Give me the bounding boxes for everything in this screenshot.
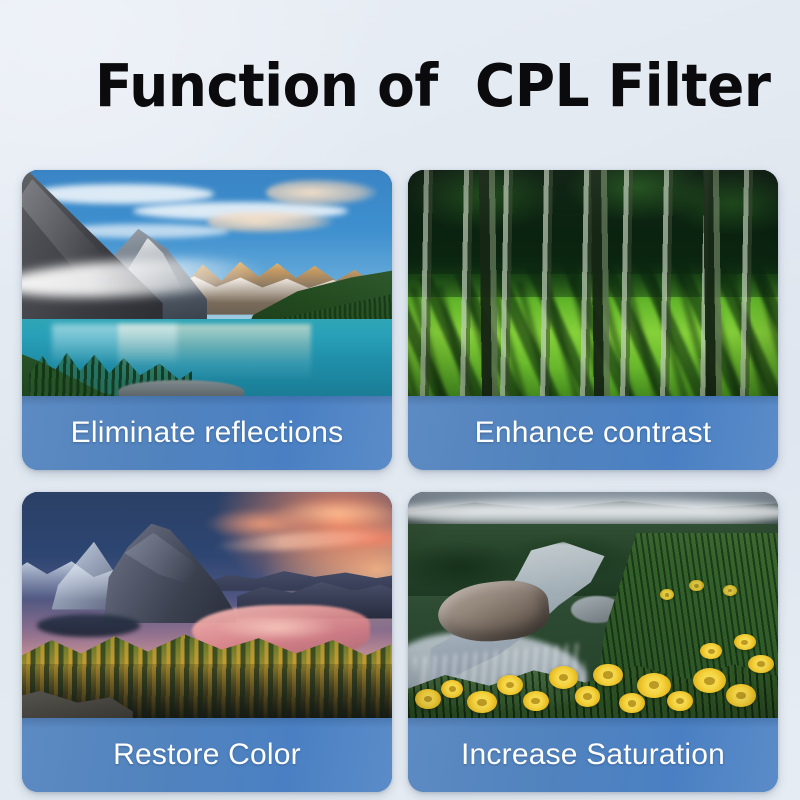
feature-card-increase-saturation[interactable]: Increase Saturation <box>408 492 778 792</box>
lake-glow <box>214 614 340 641</box>
feature-card-eliminate-reflections[interactable]: Eliminate reflections <box>22 170 392 470</box>
vignette <box>408 492 778 718</box>
page-title: Function of CPL Filter <box>95 56 771 115</box>
photo-mountain-lake <box>22 170 392 396</box>
card-caption: Enhance contrast <box>408 396 778 470</box>
shore-rocks <box>118 380 244 396</box>
card-caption: Restore Color <box>22 718 392 792</box>
card-caption: Eliminate reflections <box>22 396 392 470</box>
feature-card-grid: Eliminate reflections Enhance contrast <box>22 170 778 792</box>
poster-canvas: Function of CPL Filter <box>0 0 800 800</box>
photo-sunlit-forest <box>408 170 778 396</box>
warm-cloud <box>207 211 333 234</box>
feature-card-enhance-contrast[interactable]: Enhance contrast <box>408 170 778 470</box>
feature-card-restore-color[interactable]: Restore Color <box>22 492 392 792</box>
vignette <box>408 170 778 396</box>
dark-pond <box>37 614 141 637</box>
warm-cloud <box>266 179 377 206</box>
card-caption: Increase Saturation <box>408 718 778 792</box>
photo-sunset-mountain-lake <box>22 492 392 718</box>
photo-stream-buttercups <box>408 492 778 718</box>
